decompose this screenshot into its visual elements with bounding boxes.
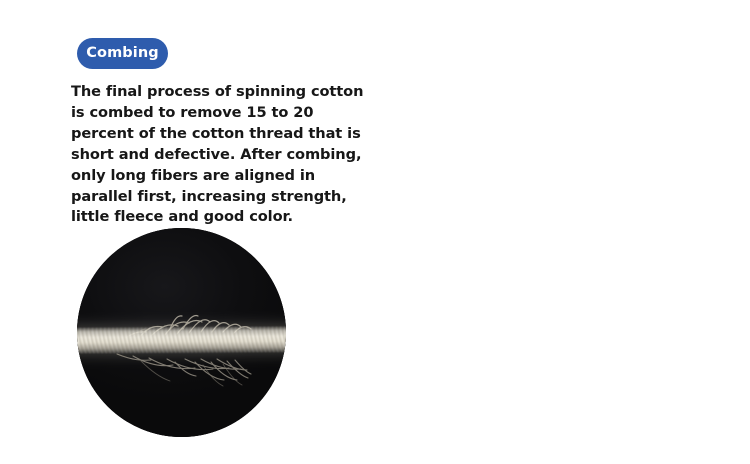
photo-combing-yarn: [77, 326, 286, 354]
photo-combing-inner: [77, 228, 286, 437]
description-combing: The final process of spinning cotton is …: [71, 82, 371, 228]
badge-combing: Combing: [77, 38, 168, 69]
comparison-page: Combing The final process of spinning co…: [0, 0, 750, 464]
panel-combing: Combing The final process of spinning co…: [0, 0, 375, 464]
panel-general-comb: General comb Very ordinary cotton thread…: [375, 0, 750, 464]
photo-combing: [77, 228, 286, 437]
badge-combing-line-1: Combing: [86, 44, 158, 63]
